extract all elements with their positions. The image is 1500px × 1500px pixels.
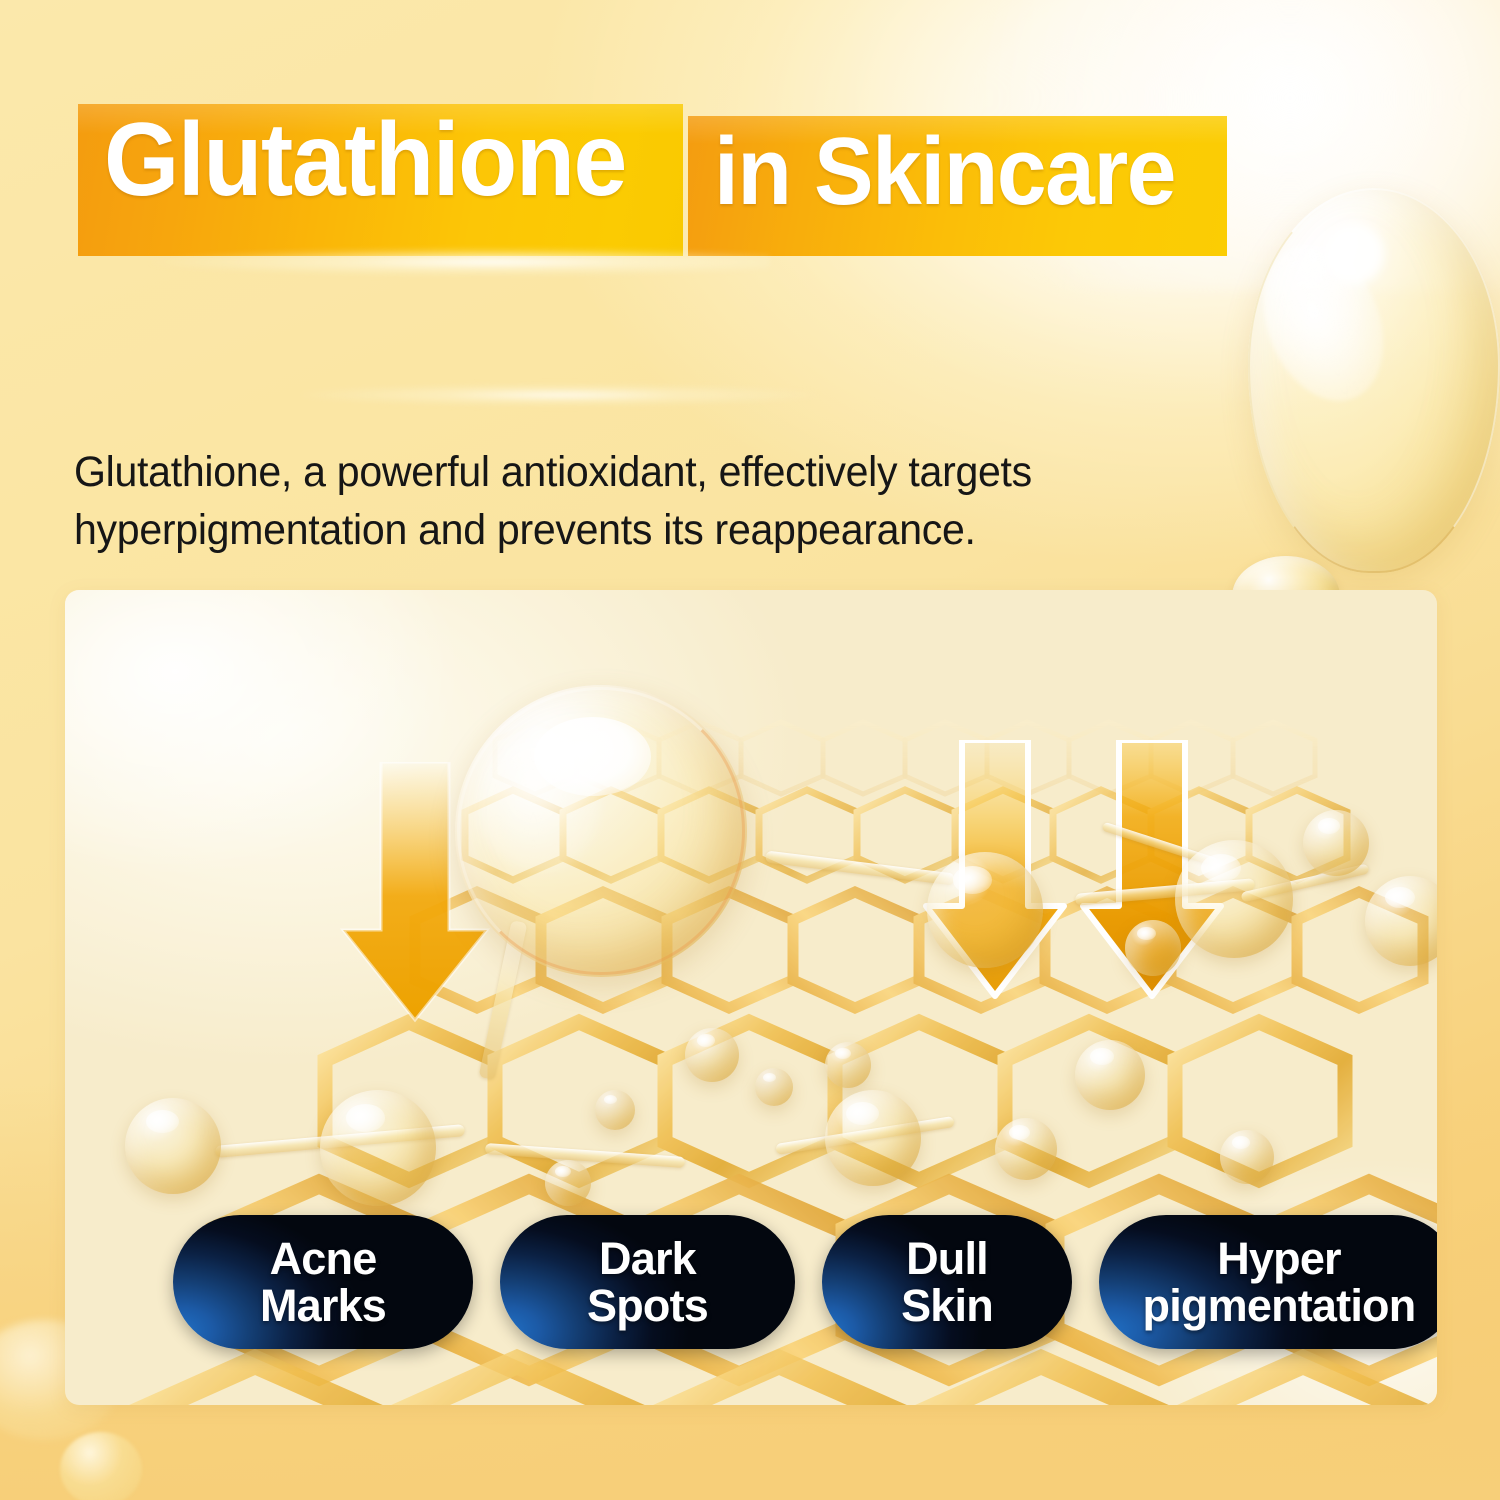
- hero-sphere-rim: [457, 687, 745, 975]
- pill-line-1: Acne: [260, 1235, 386, 1282]
- molecule-sphere: [595, 1090, 635, 1130]
- title-band-secondary: in Skincare: [688, 116, 1228, 256]
- title-line-2: in Skincare: [714, 124, 1175, 220]
- skin-concern-pill-group: Acne Marks Dark Spots Dull Skin Hyper: [173, 1215, 1437, 1350]
- pill-dull-skin[interactable]: Dull Skin: [822, 1215, 1072, 1350]
- pill-acne-marks[interactable]: Acne Marks: [173, 1215, 473, 1350]
- title-light-streak: [150, 248, 770, 276]
- molecule-sphere: [825, 1042, 871, 1088]
- title-light-streak-2: [300, 384, 820, 406]
- molecule-sphere: [1220, 1130, 1274, 1184]
- molecule-sphere: [545, 1160, 591, 1206]
- molecule-sphere: [927, 852, 1043, 968]
- poster-canvas: Glutathione in Skincare Glutathione, a p…: [0, 0, 1500, 1500]
- serum-droplet-large: [1248, 188, 1500, 573]
- molecule-sphere: [1125, 920, 1181, 976]
- molecule-sphere: [1175, 840, 1293, 958]
- pill-line-1: Hyper: [1143, 1235, 1416, 1282]
- pill-line-2: Skin: [901, 1282, 993, 1329]
- molecule-sphere: [995, 1118, 1057, 1180]
- molecule-sphere: [1303, 810, 1369, 876]
- pill-line-2: Spots: [587, 1282, 708, 1329]
- molecule-sphere: [1075, 1040, 1145, 1110]
- pill-hyperpigmentation[interactable]: Hyper pigmentation: [1099, 1215, 1437, 1350]
- title-line-1: Glutathione: [104, 108, 626, 212]
- pill-line-1: Dull: [901, 1235, 993, 1282]
- subtitle-text: Glutathione, a powerful antioxidant, eff…: [74, 444, 1249, 559]
- molecule-sphere: [685, 1028, 739, 1082]
- page-title: Glutathione in Skincare: [78, 98, 1227, 261]
- pill-line-2: Marks: [260, 1282, 386, 1329]
- title-band-primary: Glutathione: [78, 104, 683, 256]
- hero-image-panel: Acne Marks Dark Spots Dull Skin Hyper: [65, 590, 1437, 1405]
- molecule-sphere: [125, 1098, 221, 1194]
- pill-dark-spots[interactable]: Dark Spots: [500, 1215, 795, 1350]
- hero-molecule-sphere: [455, 685, 747, 977]
- pill-line-1: Dark: [587, 1235, 708, 1282]
- corner-droplet: [60, 1432, 142, 1500]
- droplet-rim: [1248, 188, 1500, 573]
- molecule-sphere: [825, 1090, 921, 1186]
- molecule-sphere: [755, 1068, 793, 1106]
- pill-line-2: pigmentation: [1143, 1282, 1416, 1329]
- molecule-sphere: [320, 1090, 436, 1206]
